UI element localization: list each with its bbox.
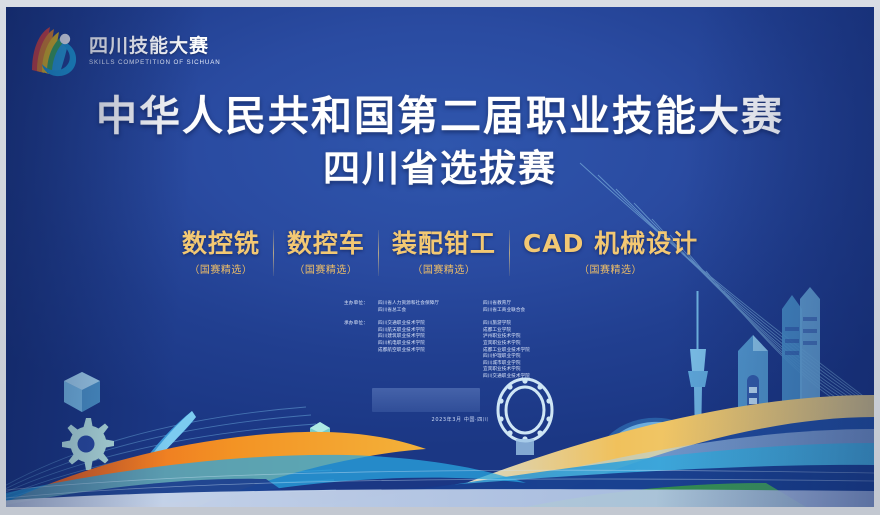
host-org: 四川省教育厅 (483, 301, 576, 308)
event-banner: 四川技能大赛 SKILLS COMPETITION OF SICHUAN 中华人… (6, 7, 874, 507)
category-item: 数控车 （国赛精选） (274, 229, 378, 276)
main-title: 中华人民共和国第二届职业技能大赛 四川省选拔赛 (6, 91, 874, 194)
logo: 四川技能大赛 SKILLS COMPETITION OF SICHUAN (28, 20, 208, 84)
organizer-org: 四川交通职业技术学院 (483, 374, 576, 381)
organizer-org: 四川护理职业学院 (483, 354, 576, 361)
organizer-org: 宜宾职业技术学院 (483, 341, 576, 348)
organizer-org: 四川旅游学院 (483, 321, 576, 328)
category-name: 数控车 (287, 229, 365, 259)
credits-block: 主办单位： 四川省人力资源和社会保障厅 四川省总工会 四川省教育厅 四川省工商业… (344, 301, 576, 388)
backdrop-screenshot: 四川技能大赛 SKILLS COMPETITION OF SICHUAN 中华人… (0, 0, 880, 515)
category-note: （国赛精选） (579, 261, 642, 276)
light-panel-decor (372, 388, 480, 412)
organizer-left-column: 四川交通职业技术学院 四川航天职业技术学院 四川建筑职业技术学院 四川机电职业技… (378, 321, 471, 380)
organizer-right-column: 四川旅游学院 成都工业学院 泸州职业技术学院 宜宾职业技术学院 成都工业职业技术… (483, 321, 576, 380)
host-group: 主办单位： 四川省人力资源和社会保障厅 四川省总工会 四川省教育厅 四川省工商业… (344, 301, 576, 314)
logo-chinese-text: 四川技能大赛 (89, 37, 221, 56)
category-note: （国赛精选） (294, 261, 357, 276)
organizer-org: 泸州职业技术学院 (483, 334, 576, 341)
category-item: CAD 机械设计 （国赛精选） (510, 229, 711, 276)
category-name: 装配钳工 (392, 229, 496, 259)
logo-english-text: SKILLS COMPETITION OF SICHUAN (89, 60, 221, 66)
host-org: 四川省人力资源和社会保障厅 (378, 301, 471, 308)
category-note: （国赛精选） (189, 261, 252, 276)
host-left-column: 四川省人力资源和社会保障厅 四川省总工会 (378, 301, 471, 314)
category-note: （国赛精选） (412, 261, 475, 276)
host-org: 四川省总工会 (378, 308, 471, 315)
category-item: 数控铣 （国赛精选） (169, 229, 273, 276)
organizer-org: 四川交通职业技术学院 (378, 321, 471, 328)
organizer-org: 成都航空职业技术学院 (378, 348, 471, 355)
organizer-label: 承办单位： (344, 321, 378, 380)
host-org: 四川省工商业联合会 (483, 308, 576, 315)
title-line-1: 中华人民共和国第二届职业技能大赛 (6, 91, 874, 141)
host-right-column: 四川省教育厅 四川省工商业联合会 (483, 301, 576, 314)
category-item: 装配钳工 （国赛精选） (379, 229, 509, 276)
category-name: 数控铣 (182, 229, 260, 259)
date-location-text: 2023年3月 中国·四川 (344, 416, 576, 423)
host-label: 主办单位： (344, 301, 378, 314)
title-line-2: 四川省选拔赛 (6, 144, 874, 194)
organizer-group: 承办单位： 四川交通职业技术学院 四川航天职业技术学院 四川建筑职业技术学院 四… (344, 321, 576, 380)
category-name: CAD 机械设计 (523, 229, 698, 259)
sichuan-skills-feather-logo-icon (28, 24, 82, 80)
organizer-org: 四川建筑职业技术学院 (378, 334, 471, 341)
category-list: 数控铣 （国赛精选） 数控车 （国赛精选） 装配钳工 （国赛精选） CAD 机械… (6, 229, 874, 276)
organizer-org: 宜宾职业技术学院 (483, 367, 576, 374)
organizer-org: 四川机电职业技术学院 (378, 341, 471, 348)
